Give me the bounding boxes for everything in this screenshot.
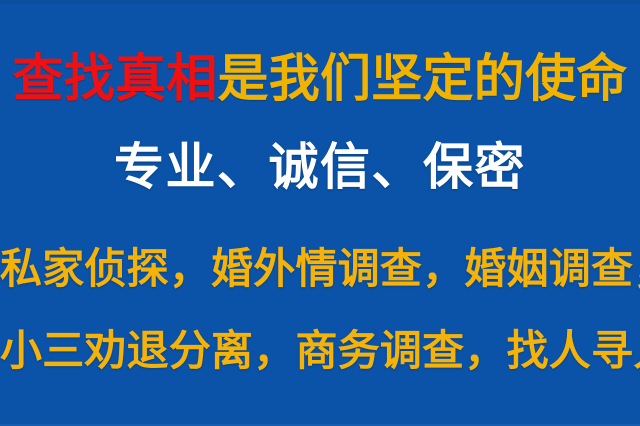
top-edge-strip (0, 0, 640, 4)
headline-rest-text: 是我们坚定的使命 (217, 50, 627, 109)
services-line-2: 小三劝退分离，商务调查，找人寻人 (0, 330, 640, 372)
headline-line: 查找真相是我们坚定的使命 (0, 54, 640, 105)
headline-emphasis-text: 查找真相 (12, 50, 217, 109)
values-line: 专业、诚信、保密 (0, 142, 640, 192)
advertisement-banner: 查找真相是我们坚定的使命 专业、诚信、保密 私家侦探，婚外情调查，婚姻调查， 小… (0, 0, 640, 426)
services-line-1: 私家侦探，婚外情调查，婚姻调查， (0, 248, 640, 290)
